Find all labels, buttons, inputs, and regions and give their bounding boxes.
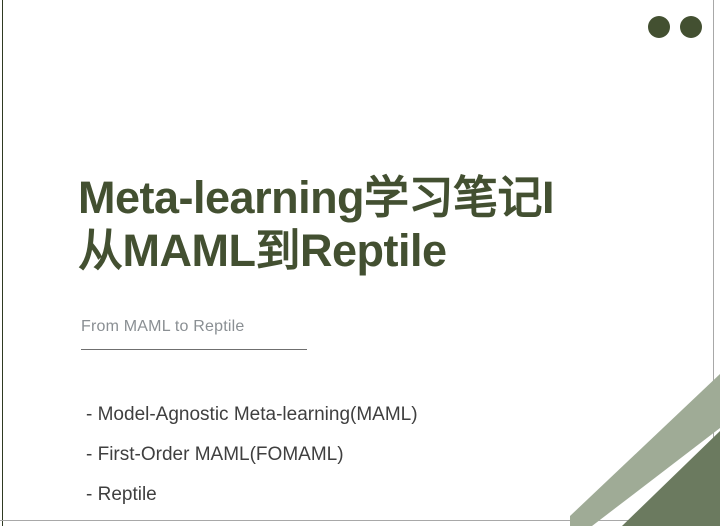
dot-left-icon — [648, 16, 670, 38]
decorative-dots — [648, 16, 702, 38]
right-edge-rule — [713, 0, 714, 526]
list-item: - First-Order MAML(FOMAML) — [86, 435, 606, 475]
subtitle-divider — [81, 349, 307, 350]
slide-subtitle: From MAML to Reptile — [81, 318, 244, 336]
bottom-edge-rule — [0, 520, 720, 521]
slide-canvas: Meta-learning学习笔记I 从MAML到Reptile From MA… — [0, 0, 720, 526]
dot-right-icon — [680, 16, 702, 38]
agenda-list: - Model-Agnostic Meta-learning(MAML) - F… — [86, 395, 606, 515]
slide-title: Meta-learning学习笔记I 从MAML到Reptile — [78, 172, 658, 277]
left-edge-rule — [2, 0, 3, 526]
list-item: - Model-Agnostic Meta-learning(MAML) — [86, 395, 606, 435]
list-item: - Reptile — [86, 475, 606, 515]
